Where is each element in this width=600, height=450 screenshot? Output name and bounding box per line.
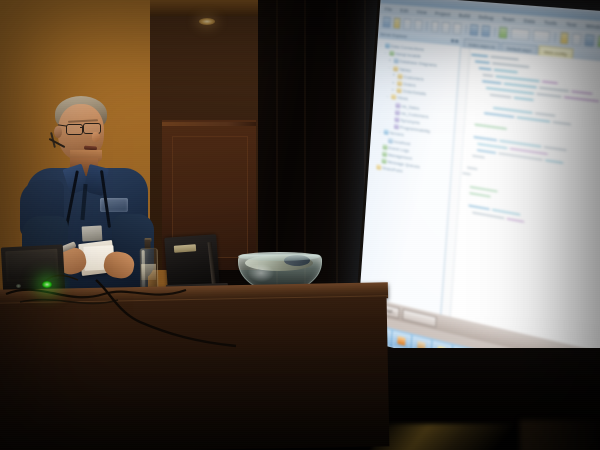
menu-item[interactable]: Build [459, 12, 471, 18]
db-icon [381, 158, 386, 164]
expander-icon[interactable]: - [385, 94, 389, 98]
expander-icon[interactable]: + [388, 58, 392, 62]
cut-icon[interactable] [431, 20, 440, 32]
expander-icon[interactable] [376, 158, 380, 163]
expander-icon[interactable] [382, 137, 386, 142]
expander-icon[interactable]: - [378, 129, 382, 134]
fld-icon [376, 164, 381, 170]
tbl-icon [397, 73, 402, 79]
menu-item[interactable]: Window [586, 23, 600, 30]
expander-icon[interactable] [376, 151, 380, 156]
srv-icon [383, 129, 388, 135]
bowl-rim [238, 252, 320, 261]
floor-light-patch-right [520, 420, 600, 450]
expander-icon[interactable]: + [392, 73, 396, 77]
code-token [479, 67, 492, 71]
tbl-icon [396, 81, 401, 87]
save-icon[interactable] [403, 18, 411, 30]
solution-explorer-icon[interactable] [585, 34, 595, 47]
code-token [475, 60, 490, 64]
col-icon [394, 117, 399, 123]
ear [54, 126, 62, 138]
expander-icon[interactable] [389, 116, 393, 121]
device-led-green [42, 281, 52, 288]
pin-icon[interactable] [450, 39, 453, 42]
fld-icon [391, 94, 396, 100]
redo-icon[interactable] [481, 25, 490, 37]
bookmark-icon[interactable] [572, 33, 582, 46]
code-token [542, 80, 558, 84]
menu-item[interactable]: Data [524, 18, 536, 24]
expander-icon[interactable]: - [379, 43, 383, 47]
expander-icon[interactable]: - [383, 51, 387, 55]
tbl-icon [393, 66, 398, 72]
menu-item[interactable]: Project [435, 10, 451, 16]
expander-icon[interactable]: - [387, 65, 391, 69]
floor-light-patch [370, 424, 512, 450]
menu-item[interactable]: Test [566, 21, 577, 27]
expander-icon[interactable] [377, 143, 381, 148]
orange-app-icon [397, 336, 405, 346]
dat-icon [387, 137, 392, 143]
dat-icon [393, 58, 398, 64]
alcove-ceiling [150, 0, 262, 16]
expander-icon[interactable] [370, 164, 374, 169]
laptop-left-screen [5, 249, 58, 282]
podium-desk-front [0, 296, 389, 450]
menu-item[interactable]: Team [502, 16, 515, 22]
expander-icon[interactable]: + [391, 88, 395, 92]
col-icon [395, 102, 400, 108]
menu-item[interactable]: File [385, 6, 393, 12]
db-icon [389, 51, 394, 57]
code-token [462, 172, 471, 176]
tree-node-label: SharePoint [382, 165, 403, 173]
menu-item[interactable]: View [416, 9, 427, 15]
col-icon [394, 109, 399, 115]
srv-icon [384, 43, 389, 48]
glasses-bridge [80, 127, 84, 128]
platform-select[interactable] [533, 29, 551, 42]
start-debug-icon[interactable] [499, 26, 508, 38]
tbl-icon [396, 88, 401, 94]
device-led-secondary [16, 284, 21, 288]
menu-item[interactable]: Tools [544, 19, 557, 25]
code-token [482, 74, 493, 78]
code-token [467, 166, 478, 170]
undo-icon[interactable] [470, 24, 479, 36]
open-file-icon[interactable] [393, 17, 401, 29]
door-rail [162, 122, 256, 126]
expander-icon[interactable] [389, 109, 393, 114]
paste-icon[interactable] [453, 22, 462, 34]
photo-scene: File Edit View Project Build Debug Team … [0, 0, 600, 450]
recessed-ceiling-light-icon [199, 18, 215, 25]
new-project-icon[interactable] [382, 16, 390, 28]
code-token [471, 53, 488, 57]
nose [92, 132, 100, 142]
projection-screen: File Edit View Project Build Debug Team … [353, 0, 600, 405]
close-icon[interactable] [455, 40, 458, 43]
db-icon [382, 151, 387, 157]
db-icon [382, 144, 387, 150]
conference-badge [82, 225, 103, 241]
menu-item[interactable]: Debug [478, 14, 493, 21]
expander-icon[interactable] [388, 123, 392, 128]
bowl-highlight [248, 264, 274, 282]
glasses-icon [66, 124, 83, 135]
menu-item[interactable]: Edit [400, 7, 409, 13]
config-select[interactable] [510, 27, 530, 40]
expander-icon[interactable] [390, 102, 394, 107]
copy-icon[interactable] [442, 21, 451, 33]
col-icon [393, 124, 398, 130]
find-icon[interactable] [560, 31, 570, 44]
expander-icon[interactable]: + [391, 80, 395, 84]
save-all-icon[interactable] [414, 19, 423, 31]
